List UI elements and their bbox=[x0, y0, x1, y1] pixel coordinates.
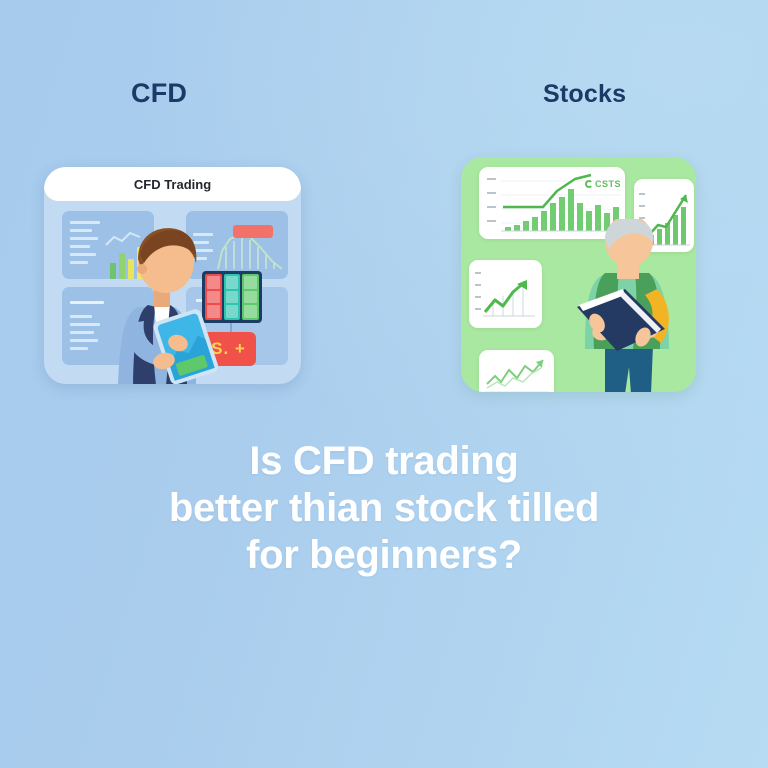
csts-logo-mark bbox=[585, 180, 593, 188]
price-col-buy bbox=[242, 274, 259, 320]
cfd-alert-tag bbox=[233, 225, 273, 238]
stocks-illustration-card: CSTS bbox=[461, 157, 696, 392]
headline-line-2: better thian stock tilled bbox=[0, 485, 768, 532]
headline-line-3: for beginners? bbox=[0, 532, 768, 579]
cfd-illustration-card: CFD Trading bbox=[44, 167, 301, 384]
stocks-upward-trend-chart bbox=[469, 260, 542, 328]
headline-line-1: Is CFD trading bbox=[0, 438, 768, 485]
csts-logo: CSTS bbox=[585, 179, 621, 189]
stocks-volatility-chart bbox=[479, 350, 554, 392]
column-heading-stocks: Stocks bbox=[543, 80, 626, 109]
poster-canvas: CFD Stocks CFD Trading bbox=[0, 0, 768, 768]
headline: Is CFD trading better thian stock tilled… bbox=[0, 438, 768, 579]
column-heading-cfd: CFD bbox=[131, 78, 187, 109]
csts-logo-text: CSTS bbox=[595, 179, 621, 189]
cfd-card-title: CFD Trading bbox=[134, 177, 211, 192]
cfd-trader-illustration bbox=[104, 215, 239, 384]
stocks-investor-illustration bbox=[561, 219, 696, 392]
chart-svg bbox=[469, 260, 542, 328]
chart-svg bbox=[479, 350, 554, 392]
cfd-card-header: CFD Trading bbox=[44, 167, 301, 201]
